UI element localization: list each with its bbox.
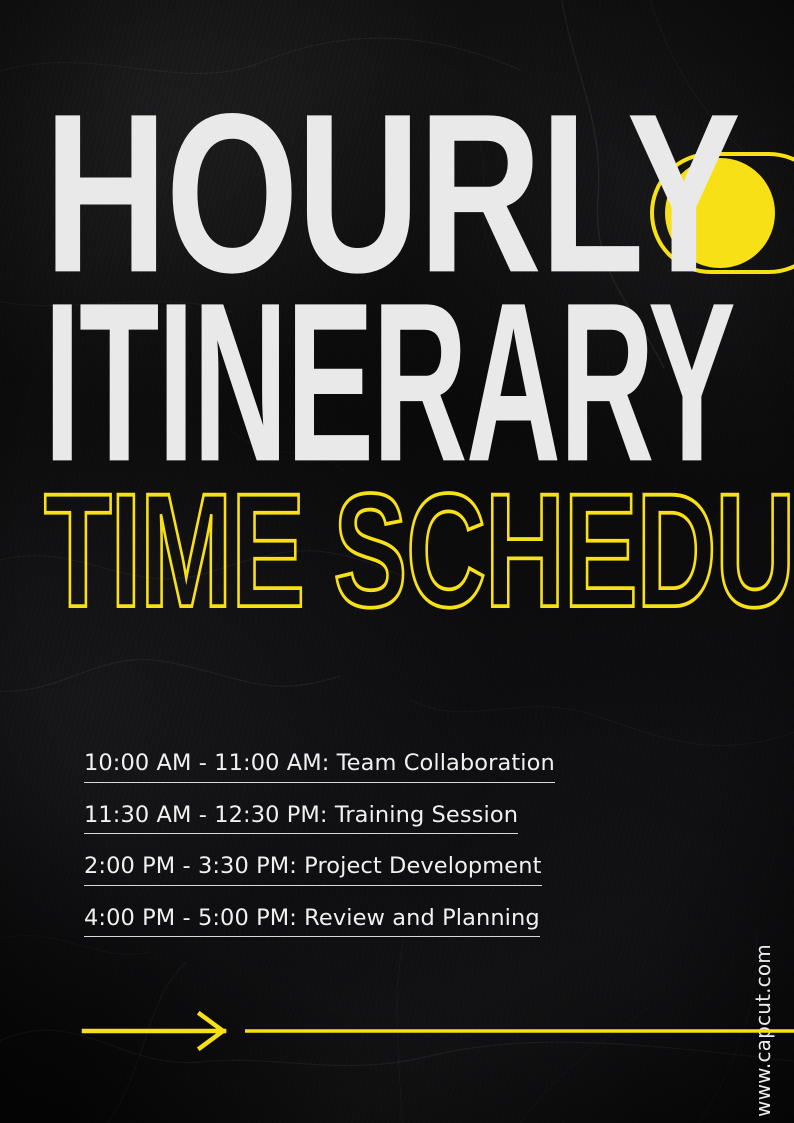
- schedule-entry-text: 10:00 AM - 11:00 AM: Team Collaboration: [84, 752, 555, 783]
- schedule-entry-text: 11:30 AM - 12:30 PM: Training Session: [84, 804, 518, 835]
- poster-canvas: HOURLY ITINERARY TIME SCHEDULE 10:00 AM …: [0, 0, 794, 1123]
- schedule-entry-text: 4:00 PM - 5:00 PM: Review and Planning: [84, 907, 540, 938]
- list-item: 10:00 AM - 11:00 AM: Team Collaboration: [84, 752, 644, 804]
- list-item: 4:00 PM - 5:00 PM: Review and Planning: [84, 907, 644, 959]
- list-item: 2:00 PM - 3:30 PM: Project Development: [84, 855, 644, 907]
- list-item: 11:30 AM - 12:30 PM: Training Session: [84, 804, 644, 856]
- schedule-entry-text: 2:00 PM - 3:30 PM: Project Development: [84, 855, 542, 886]
- footer-arrow-rule: [0, 1008, 794, 1052]
- headline-subtitle: TIME SCHEDULE: [44, 473, 606, 627]
- schedule-list: 10:00 AM - 11:00 AM: Team Collaboration …: [84, 752, 644, 958]
- page-title: HOURLY ITINERARY TIME SCHEDULE: [44, 92, 794, 621]
